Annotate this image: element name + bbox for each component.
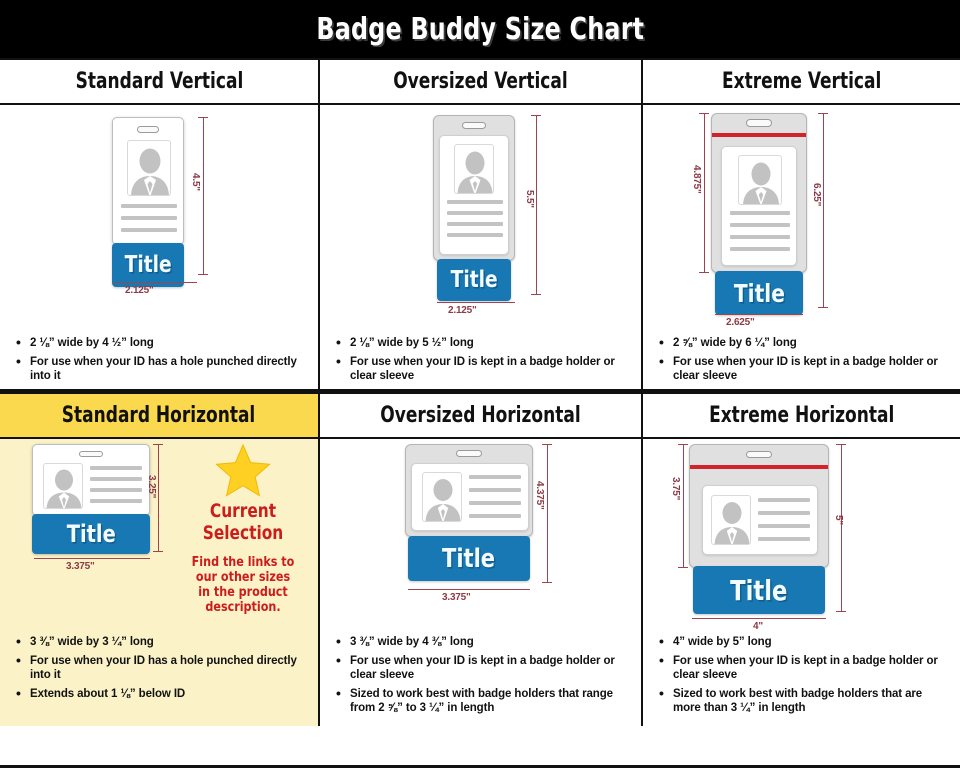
badge-holder bbox=[689, 444, 829, 568]
text-line bbox=[469, 514, 521, 518]
badge-title-strip: Title bbox=[112, 243, 184, 287]
photo-placeholder bbox=[422, 472, 462, 522]
list-item: Sized to work best with badge holders th… bbox=[657, 688, 950, 715]
vertical-row: Standard Vertical bbox=[0, 58, 960, 392]
list-item: For use when your ID is kept in a badge … bbox=[657, 356, 950, 383]
person-silhouette-icon bbox=[128, 141, 171, 196]
text-line bbox=[730, 223, 790, 227]
list-item: For use when your ID has a hole punched … bbox=[14, 356, 308, 383]
dimension-line-height bbox=[158, 444, 159, 552]
dimension-label-height: 5.5" bbox=[524, 190, 535, 208]
cell-standard-horizontal: Standard Horizontal bbox=[0, 392, 320, 726]
id-card bbox=[411, 463, 529, 531]
list-item: Extends about 1 ⅛” below ID bbox=[14, 688, 308, 701]
dimension-line-height bbox=[203, 117, 204, 275]
cell-oversized-horizontal: Oversized Horizontal bbox=[320, 392, 643, 726]
dimension-tick bbox=[153, 444, 163, 445]
promo-links-line-2: our other sizes bbox=[174, 570, 312, 585]
text-line bbox=[447, 222, 503, 226]
dimension-tick bbox=[542, 444, 552, 445]
dimension-tick bbox=[836, 444, 846, 445]
dimension-line-width bbox=[715, 314, 803, 315]
photo-placeholder bbox=[711, 495, 751, 545]
badge-title-label: Title bbox=[66, 520, 115, 548]
badge-title-label: Title bbox=[730, 574, 787, 607]
zip-strip bbox=[712, 133, 806, 137]
dimension-tick bbox=[699, 272, 709, 273]
dimension-line-height bbox=[547, 444, 548, 583]
page-title: Badge Buddy Size Chart bbox=[316, 12, 644, 47]
list-item: 3 ⅜” wide by 4 ⅜” long bbox=[334, 636, 631, 649]
cell-oversized-vertical: Oversized Vertical bbox=[320, 58, 643, 392]
dimension-line-inner-height bbox=[683, 444, 684, 568]
text-line bbox=[469, 501, 521, 505]
person-silhouette-icon bbox=[455, 145, 494, 194]
dimension-line-outer-height bbox=[823, 113, 824, 308]
badge-slot-icon bbox=[746, 451, 772, 458]
promo-links-line-4: description. bbox=[174, 600, 312, 615]
promo-links-line-3: in the product bbox=[174, 585, 312, 600]
dimension-tick bbox=[531, 294, 541, 295]
text-line bbox=[469, 488, 521, 492]
header-oversized-horizontal: Oversized Horizontal bbox=[320, 392, 641, 439]
id-card bbox=[439, 135, 509, 255]
text-line bbox=[730, 235, 790, 239]
badge-art-oversized-vertical: Title 5.5" 2.125" bbox=[320, 105, 641, 333]
header-label: Standard Vertical bbox=[75, 69, 243, 94]
list-item: 2 ⅛” wide by 4 ½” long bbox=[14, 337, 308, 350]
text-line bbox=[447, 233, 503, 237]
body-extreme-horizontal: Title 3.75" 5" 4" 4” wide by bbox=[643, 439, 960, 726]
person-silhouette-icon bbox=[739, 156, 782, 205]
badge-graphic: Title bbox=[711, 113, 816, 318]
badge-holder bbox=[405, 444, 533, 537]
dimension-label-width: 2.625" bbox=[726, 317, 755, 328]
cell-extreme-horizontal: Extreme Horizontal bbox=[643, 392, 960, 726]
list-item: For use when your ID is kept in a badge … bbox=[334, 356, 631, 383]
header-label: Extreme Horizontal bbox=[709, 403, 894, 428]
header-label: Standard Horizontal bbox=[62, 403, 256, 428]
text-line bbox=[730, 211, 790, 215]
dimension-label-width: 3.375" bbox=[66, 561, 95, 572]
text-line bbox=[730, 247, 790, 251]
dimension-tick bbox=[836, 611, 846, 612]
dimension-label-inner-height: 3.75" bbox=[670, 477, 681, 500]
badge-title-label: Title bbox=[733, 279, 784, 308]
dimension-tick bbox=[818, 307, 828, 308]
badge-title-strip: Title bbox=[437, 259, 511, 301]
dimension-line-outer-height bbox=[841, 444, 842, 612]
badge-slot-icon bbox=[462, 122, 486, 129]
dimension-label-width: 4" bbox=[753, 621, 763, 632]
dimension-label-height: 4.375" bbox=[534, 481, 545, 510]
text-line bbox=[121, 204, 177, 208]
id-card bbox=[702, 485, 818, 555]
id-card bbox=[112, 117, 184, 245]
person-silhouette-icon bbox=[44, 464, 83, 509]
zip-strip bbox=[690, 465, 828, 469]
dimension-label-width: 2.125" bbox=[448, 305, 477, 316]
body-oversized-vertical: Title 5.5" 2.125" 2 ⅛” wide by 5 ½” long… bbox=[320, 105, 641, 392]
list-item: 2 ⅝” wide by 6 ¼” long bbox=[657, 337, 950, 350]
list-item: For use when your ID has a hole punched … bbox=[14, 655, 308, 682]
dimension-label-width: 3.375" bbox=[442, 592, 471, 603]
photo-placeholder bbox=[43, 463, 83, 509]
list-item: 2 ⅛” wide by 5 ½” long bbox=[334, 337, 631, 350]
dimension-line-height bbox=[536, 115, 537, 295]
body-standard-vertical: Title 4.5" 2.125" 2 ⅛” wide by 4 ½” long… bbox=[0, 105, 318, 392]
text-line bbox=[121, 216, 177, 220]
badge-title-label: Title bbox=[442, 544, 495, 574]
text-line bbox=[758, 511, 810, 515]
list-item: 4” wide by 5” long bbox=[657, 636, 950, 649]
badge-holder bbox=[433, 115, 515, 261]
chart-title-banner: Badge Buddy Size Chart bbox=[0, 0, 960, 58]
current-selection-line-2: Selection bbox=[176, 523, 311, 543]
size-chart: Badge Buddy Size Chart Standard Vertical bbox=[0, 0, 960, 768]
text-line bbox=[758, 524, 810, 528]
id-card bbox=[32, 444, 150, 516]
badge-slot-icon bbox=[137, 126, 159, 133]
star-icon bbox=[214, 443, 272, 499]
current-selection-promo: Current Selection Find the links to our … bbox=[168, 443, 318, 615]
badge-art-oversized-horizontal: Title 4.375" 3.375" bbox=[320, 439, 641, 632]
list-item: 3 ⅜” wide by 3 ¼” long bbox=[14, 636, 308, 649]
bullets-oversized-horizontal: 3 ⅜” wide by 4 ⅜” long For use when your… bbox=[320, 632, 641, 721]
header-standard-vertical: Standard Vertical bbox=[0, 58, 318, 105]
header-label: Oversized Vertical bbox=[393, 69, 567, 94]
list-item: For use when your ID is kept in a badge … bbox=[657, 655, 950, 682]
badge-title-strip: Title bbox=[32, 514, 150, 554]
badge-slot-icon bbox=[79, 451, 103, 457]
dimension-tick bbox=[198, 274, 208, 275]
badge-graphic: Title bbox=[689, 444, 834, 619]
text-line bbox=[758, 537, 810, 541]
text-line bbox=[121, 228, 177, 232]
dimension-tick bbox=[542, 582, 552, 583]
text-line bbox=[469, 475, 521, 479]
body-extreme-vertical: Title 4.875" 6.25" 2.625" bbox=[643, 105, 960, 392]
dimension-line-inner-height bbox=[704, 113, 705, 273]
dimension-tick bbox=[198, 117, 208, 118]
photo-placeholder bbox=[454, 144, 494, 194]
photo-placeholder bbox=[127, 140, 171, 196]
dimension-tick bbox=[818, 113, 828, 114]
dimension-tick bbox=[531, 115, 541, 116]
header-label: Oversized Horizontal bbox=[380, 403, 580, 428]
header-extreme-horizontal: Extreme Horizontal bbox=[643, 392, 960, 439]
badge-art-extreme-vertical: Title 4.875" 6.25" 2.625" bbox=[643, 105, 960, 333]
dimension-line-width bbox=[34, 558, 150, 559]
dimension-tick bbox=[678, 567, 688, 568]
cell-standard-vertical: Standard Vertical bbox=[0, 58, 320, 392]
text-line bbox=[447, 200, 503, 204]
dimension-label-inner-height: 4.875" bbox=[691, 165, 702, 194]
text-line bbox=[90, 477, 142, 481]
bullets-extreme-horizontal: 4” wide by 5” long For use when your ID … bbox=[643, 632, 960, 721]
badge-title-strip: Title bbox=[715, 271, 803, 315]
promo-links-line-1: Find the links to bbox=[174, 555, 312, 570]
badge-art-standard-horizontal: Title 3.25" 3.375" Current bbox=[0, 439, 318, 632]
dimension-line-width bbox=[692, 618, 826, 619]
dimension-line-width bbox=[408, 589, 530, 590]
dimension-label-width: 2.125" bbox=[125, 285, 154, 296]
badge-graphic: Title bbox=[32, 444, 152, 552]
cell-extreme-vertical: Extreme Vertical bbox=[643, 58, 960, 392]
badge-holder bbox=[711, 113, 807, 273]
badge-title-label: Title bbox=[124, 252, 171, 278]
badge-title-strip: Title bbox=[693, 566, 825, 614]
body-oversized-horizontal: Title 4.375" 3.375" 3 ⅜” wide by 4 ⅜” lo… bbox=[320, 439, 641, 726]
text-line bbox=[758, 498, 810, 502]
person-silhouette-icon bbox=[712, 496, 751, 545]
badge-graphic: Title bbox=[433, 115, 528, 305]
text-line bbox=[90, 466, 142, 470]
current-selection-line-1: Current bbox=[176, 501, 311, 521]
dimension-line-width bbox=[437, 302, 515, 303]
badge-graphic: Title bbox=[112, 117, 196, 289]
badge-art-standard-vertical: Title 4.5" 2.125" bbox=[0, 105, 318, 333]
horizontal-row: Standard Horizontal bbox=[0, 392, 960, 726]
dimension-label-outer-height: 5" bbox=[833, 515, 844, 525]
header-label: Extreme Vertical bbox=[722, 69, 881, 94]
dimension-tick bbox=[699, 113, 709, 114]
list-item: Sized to work best with badge holders th… bbox=[334, 688, 631, 715]
header-standard-horizontal: Standard Horizontal bbox=[0, 392, 318, 439]
text-line bbox=[447, 211, 503, 215]
person-silhouette-icon bbox=[423, 473, 462, 522]
list-item: For use when your ID is kept in a badge … bbox=[334, 655, 631, 682]
badge-slot-icon bbox=[746, 119, 772, 127]
bullets-standard-horizontal: 3 ⅜” wide by 3 ¼” long For use when your… bbox=[0, 632, 318, 708]
badge-title-label: Title bbox=[450, 267, 497, 293]
photo-placeholder bbox=[738, 155, 782, 205]
text-line bbox=[90, 499, 142, 503]
header-oversized-vertical: Oversized Vertical bbox=[320, 58, 641, 105]
id-card bbox=[721, 146, 797, 266]
dimension-tick bbox=[153, 551, 163, 552]
badge-art-extreme-horizontal: Title 3.75" 5" 4" bbox=[643, 439, 960, 632]
body-standard-horizontal: Title 3.25" 3.375" Current bbox=[0, 439, 318, 726]
text-line bbox=[90, 488, 142, 492]
badge-graphic: Title bbox=[405, 444, 540, 584]
dimension-label-height: 3.25" bbox=[146, 475, 157, 498]
dimension-tick bbox=[678, 444, 688, 445]
badge-slot-icon bbox=[456, 450, 482, 457]
header-extreme-vertical: Extreme Vertical bbox=[643, 58, 960, 105]
badge-title-strip: Title bbox=[408, 536, 530, 581]
dimension-line-width bbox=[113, 282, 197, 283]
dimension-label-outer-height: 6.25" bbox=[811, 183, 822, 206]
dimension-label-height: 4.5" bbox=[190, 173, 201, 191]
